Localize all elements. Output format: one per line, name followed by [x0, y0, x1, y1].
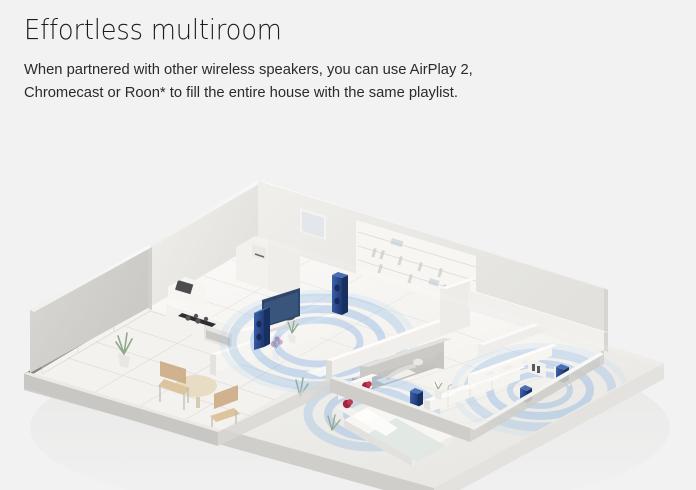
speaker-living-left — [254, 307, 270, 350]
apartment-floorplan-illustration: Isometric cutaway 3D render of an apartm… — [0, 128, 696, 490]
page-title: Effortless multiroom — [24, 14, 613, 46]
section-description: When partnered with other wireless speak… — [24, 58, 587, 104]
description-line-1: When partnered with other wireless speak… — [24, 58, 587, 81]
description-line-2: Chromecast or Roon* to fill the entire h… — [24, 81, 587, 104]
text-block: Effortless multiroom When partnered with… — [24, 14, 664, 104]
multiroom-feature-section: Effortless multiroom When partnered with… — [0, 0, 696, 490]
speaker-living-right — [332, 272, 348, 315]
